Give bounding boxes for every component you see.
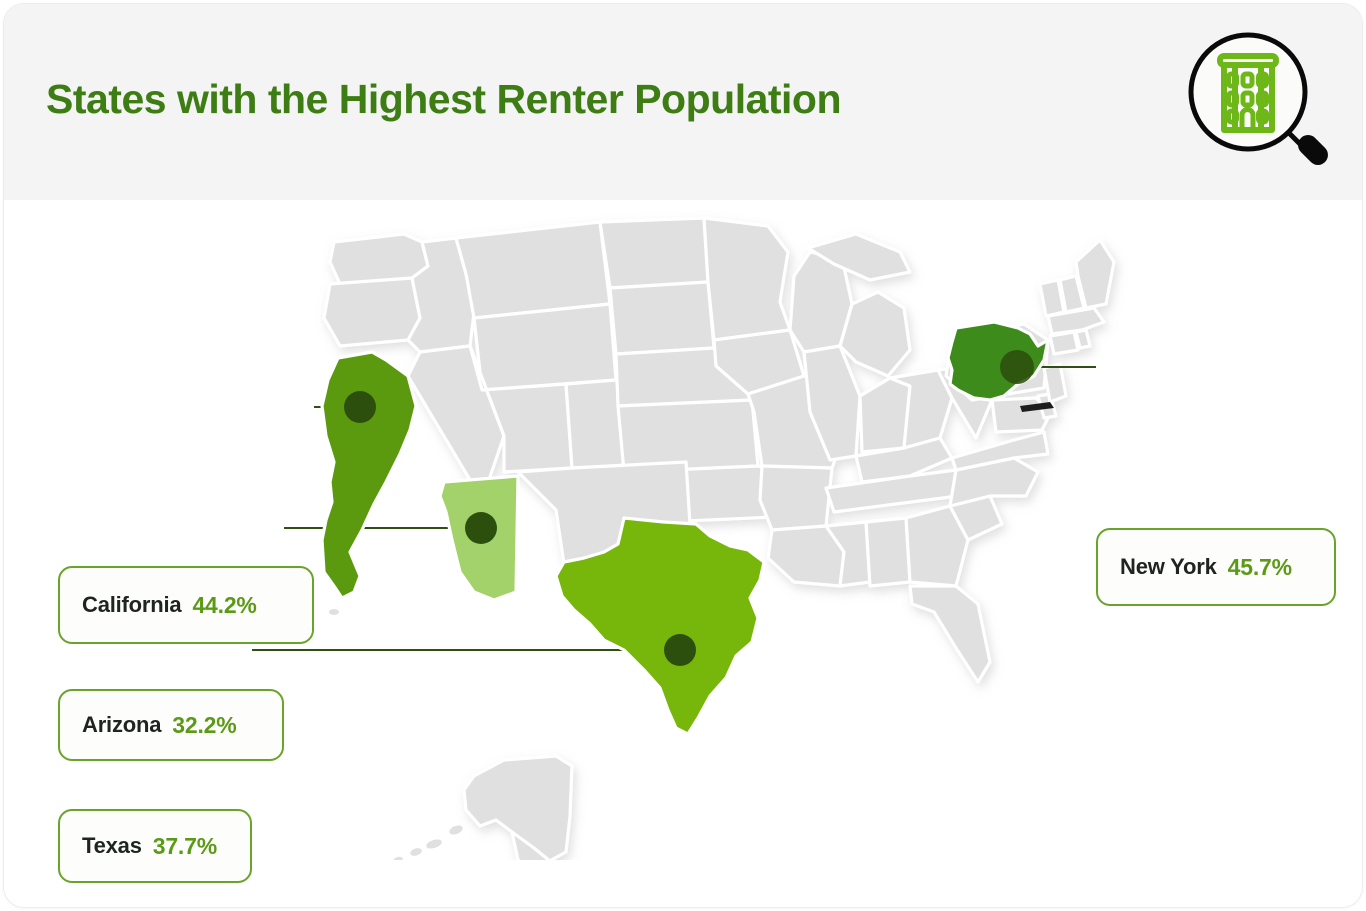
callout-percentage: 32.2%	[172, 712, 236, 739]
callout-state-name: New York	[1120, 554, 1217, 580]
magnifying-glass-apartment-building-icon	[1178, 26, 1343, 181]
region-california[interactable]	[322, 352, 416, 598]
header-band: States with the Highest Renter Populatio…	[4, 4, 1362, 201]
callout-percentage: 45.7%	[1228, 554, 1292, 581]
callout-state-name: California	[82, 592, 181, 618]
marker-arizona[interactable]	[465, 512, 497, 544]
map-body: California 44.2% Arizona 32.2% Texas 37.…	[4, 200, 1362, 907]
marker-texas[interactable]	[664, 634, 696, 666]
aleutian-islands	[329, 609, 464, 860]
page-title: States with the Highest Renter Populatio…	[46, 76, 841, 123]
callout-new-york[interactable]: New York 45.7%	[1096, 528, 1336, 606]
marker-newyork[interactable]	[1000, 350, 1034, 384]
infographic-card: States with the Highest Renter Populatio…	[4, 4, 1362, 907]
callout-state-name: Arizona	[82, 712, 161, 738]
callout-texas[interactable]: Texas 37.7%	[58, 809, 252, 883]
callout-percentage: 44.2%	[192, 592, 256, 619]
callout-arizona[interactable]: Arizona 32.2%	[58, 689, 284, 761]
callout-california[interactable]: California 44.2%	[58, 566, 314, 644]
marker-california[interactable]	[344, 391, 376, 423]
callout-percentage: 37.7%	[153, 833, 217, 860]
callout-state-name: Texas	[82, 833, 142, 859]
